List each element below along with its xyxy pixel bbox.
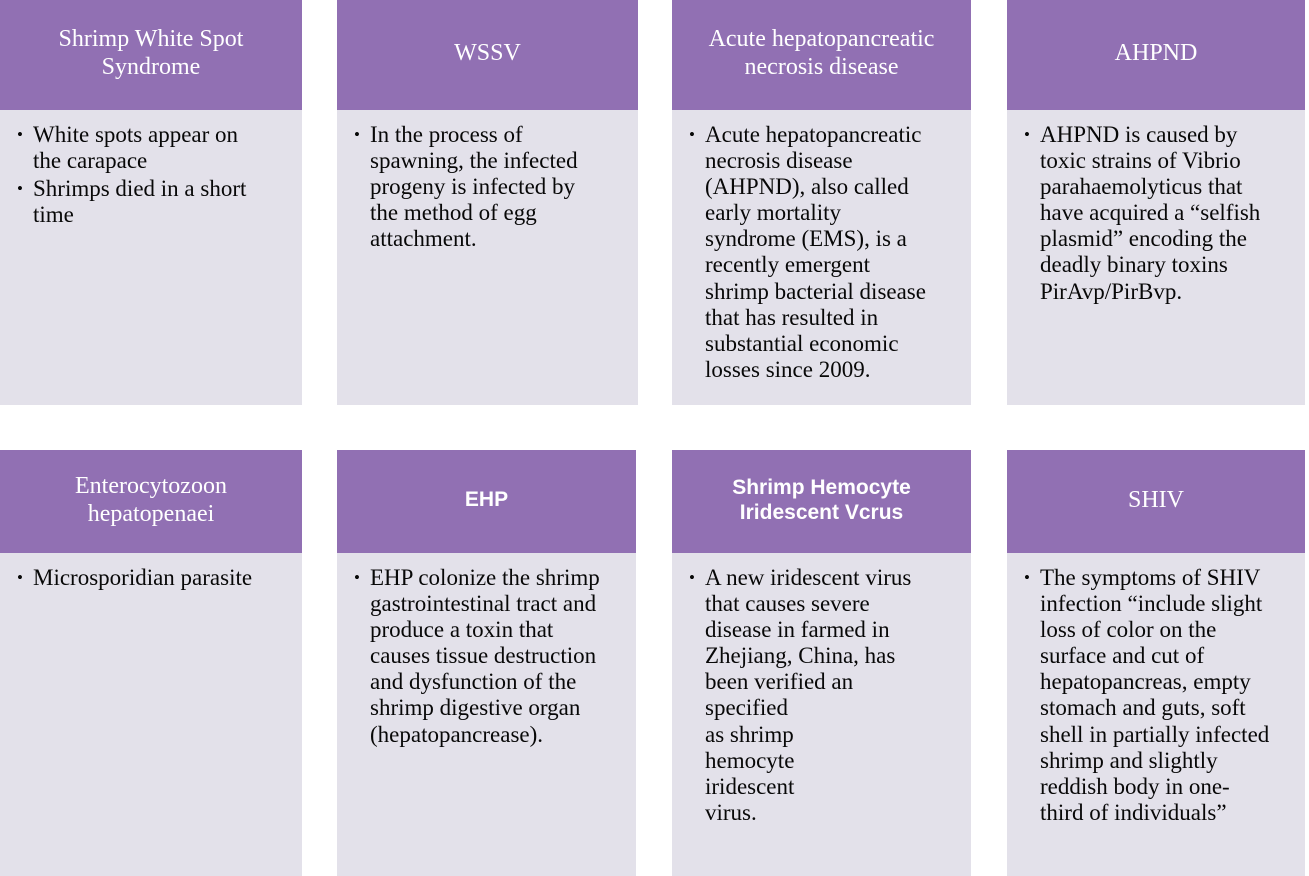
card-body: Acute hepatopancreatic necrosis disease … xyxy=(672,110,971,395)
card-body: In the process of spawning, the infected… xyxy=(337,110,638,264)
card-title: Shrimp Hemocyte Iridescent Vcrus xyxy=(682,476,961,525)
card-body: EHP colonize the shrimp gastrointestinal… xyxy=(337,553,636,760)
list-item: AHPND is caused by toxic strains of Vibr… xyxy=(1015,122,1297,305)
card-title: Enterocytozoon hepatopenaei xyxy=(10,473,292,529)
card-header-enterocytozoon-hepatopenaei: Enterocytozoon hepatopenaei xyxy=(0,450,302,553)
card-header-shiv: SHIV xyxy=(1007,450,1305,553)
card-header-shrimp-hemocyte-iridescent-vcrus: Shrimp Hemocyte Iridescent Vcrus xyxy=(672,450,971,553)
bullet-list: White spots appear on the carapace Shrim… xyxy=(8,122,294,228)
card-header-ahpnd: AHPND xyxy=(1007,0,1305,110)
list-item: EHP colonize the shrimp gastrointestinal… xyxy=(345,565,628,748)
card-header-ehp: EHP xyxy=(337,450,636,553)
list-item: In the process of spawning, the infected… xyxy=(345,122,630,252)
bullet-list: In the process of spawning, the infected… xyxy=(345,122,630,252)
bullet-list: AHPND is caused by toxic strains of Vibr… xyxy=(1015,122,1297,305)
card-grid: Shrimp White Spot Syndrome White spots a… xyxy=(0,0,1309,876)
card-title: AHPND xyxy=(1017,40,1295,68)
list-item: White spots appear on the carapace xyxy=(8,122,294,174)
bullet-list: EHP colonize the shrimp gastrointestinal… xyxy=(345,565,628,748)
card-acute-hepatopancreatic-necrosis-disease: Acute hepatopancreatic necrosis disease … xyxy=(672,0,971,405)
list-item: Acute hepatopancreatic necrosis disease … xyxy=(680,122,963,383)
card-body: The symptoms of SHIV infection “include … xyxy=(1007,553,1305,838)
list-item: The symptoms of SHIV infection “include … xyxy=(1015,565,1297,826)
bullet-list: The symptoms of SHIV infection “include … xyxy=(1015,565,1297,826)
card-title: Shrimp White Spot Syndrome xyxy=(10,26,292,82)
card-shiv: SHIV The symptoms of SHIV infection “inc… xyxy=(1007,450,1305,876)
bullet-list: A new iridescent virus that causes sever… xyxy=(680,565,963,826)
card-title: SHIV xyxy=(1017,487,1295,515)
card-shrimp-hemocyte-iridescent-vcrus: Shrimp Hemocyte Iridescent Vcrus A new i… xyxy=(672,450,971,876)
list-item: Shrimps died in a short time xyxy=(8,176,294,228)
card-wssv: WSSV In the process of spawning, the inf… xyxy=(337,0,638,405)
card-body: AHPND is caused by toxic strains of Vibr… xyxy=(1007,110,1305,317)
card-shrimp-white-spot-syndrome: Shrimp White Spot Syndrome White spots a… xyxy=(0,0,302,405)
card-title: EHP xyxy=(347,488,626,512)
card-title: Acute hepatopancreatic necrosis disease xyxy=(682,26,961,82)
card-ehp: EHP EHP colonize the shrimp gastrointest… xyxy=(337,450,636,876)
card-body: White spots appear on the carapace Shrim… xyxy=(0,110,302,240)
bullet-list: Microsporidian parasite xyxy=(8,565,294,591)
card-header-acute-hepatopancreatic-necrosis-disease: Acute hepatopancreatic necrosis disease xyxy=(672,0,971,110)
list-item: A new iridescent virus that causes sever… xyxy=(680,565,963,826)
list-item: Microsporidian parasite xyxy=(8,565,294,591)
card-ahpnd: AHPND AHPND is caused by toxic strains o… xyxy=(1007,0,1305,405)
card-enterocytozoon-hepatopenaei: Enterocytozoon hepatopenaei Microsporidi… xyxy=(0,450,302,876)
card-header-shrimp-white-spot-syndrome: Shrimp White Spot Syndrome xyxy=(0,0,302,110)
card-body: A new iridescent virus that causes sever… xyxy=(672,553,971,838)
card-body: Microsporidian parasite xyxy=(0,553,302,603)
card-title: WSSV xyxy=(347,40,628,68)
bullet-list: Acute hepatopancreatic necrosis disease … xyxy=(680,122,963,383)
card-header-wssv: WSSV xyxy=(337,0,638,110)
